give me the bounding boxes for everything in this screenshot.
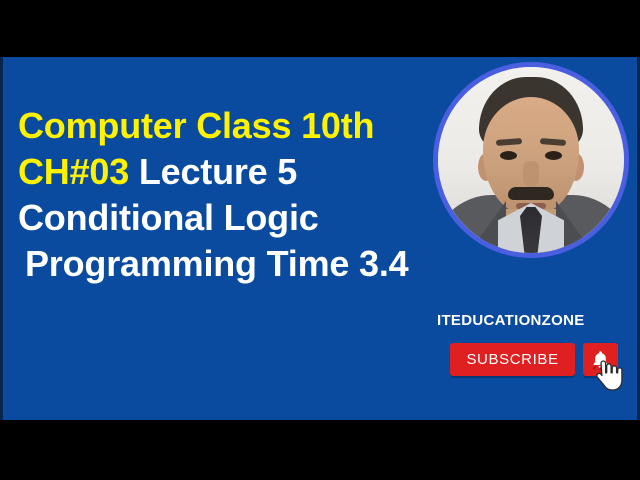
title-block: Computer Class 10th CH#03 Lecture 5 Cond…: [18, 103, 488, 287]
portrait-eye-right: [545, 151, 562, 160]
letterbox-bar-top: [0, 0, 640, 57]
video-thumbnail: Computer Class 10th CH#03 Lecture 5 Cond…: [0, 0, 640, 480]
title-lecture-label: Lecture 5: [129, 151, 297, 192]
subscribe-button-label: SUBSCRIBE: [466, 351, 558, 368]
subscribe-button[interactable]: SUBSCRIBE: [450, 343, 575, 376]
frame-edge-left: [0, 57, 3, 420]
portrait-nose: [523, 161, 539, 187]
channel-name: ITEDUCATIONZONE: [437, 312, 585, 329]
title-line-1-text: Computer Class 10th: [18, 105, 374, 146]
letterbox-bar-bottom: [0, 420, 640, 480]
notification-bell-button[interactable]: [583, 343, 618, 376]
thumbnail-content-area: Computer Class 10th CH#03 Lecture 5 Cond…: [0, 57, 640, 420]
title-line-4: Programming Time 3.4: [18, 241, 488, 287]
portrait-moustache: [508, 187, 554, 200]
title-line-3: Conditional Logic: [18, 195, 488, 241]
presenter-portrait: [433, 62, 629, 258]
portrait-eye-left: [500, 151, 517, 160]
portrait-photo: [438, 67, 624, 253]
title-chapter-label: CH#03: [18, 151, 129, 192]
title-line-3-text: Conditional Logic: [18, 197, 319, 238]
bell-icon: [591, 350, 610, 370]
title-line-2: CH#03 Lecture 5: [18, 149, 488, 195]
title-line-1: Computer Class 10th: [18, 103, 488, 149]
subscribe-row: SUBSCRIBE: [450, 343, 618, 376]
title-line-4-text: Programming Time 3.4: [25, 243, 408, 284]
